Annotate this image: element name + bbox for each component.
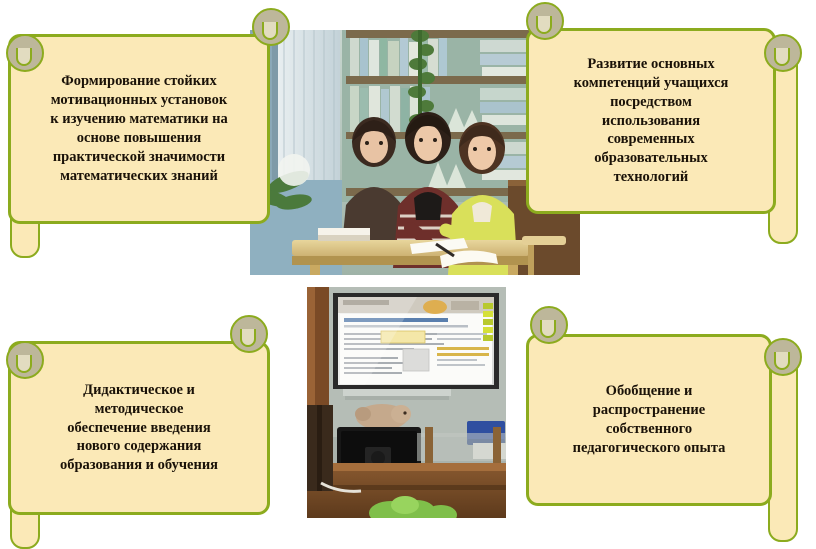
scroll-roll-left-icon xyxy=(6,341,44,379)
photo-interactive-whiteboard xyxy=(307,287,506,518)
scroll-paper: Дидактическое и методическое обеспечение… xyxy=(8,341,270,515)
scroll-roll-right-icon xyxy=(230,315,268,353)
scroll-roll-left-icon xyxy=(6,34,44,72)
scroll-roll-right-icon xyxy=(252,8,290,46)
scroll-experience-text: Обобщение и распространение собственного… xyxy=(559,378,740,461)
scroll-motivation-text: Формирование стойких мотивационных устан… xyxy=(36,68,241,189)
scroll-roll-right-icon xyxy=(764,338,802,376)
scroll-paper: Обобщение и распространение собственного… xyxy=(526,334,772,506)
scroll-motivation: Формирование стойких мотивационных устан… xyxy=(0,8,286,254)
scroll-roll-left-icon xyxy=(526,2,564,40)
scroll-roll-left-icon xyxy=(530,306,568,344)
scroll-didactics: Дидактическое и методическое обеспечение… xyxy=(0,315,286,540)
scroll-roll-right-icon xyxy=(764,34,802,72)
scroll-didactics-text: Дидактическое и методическое обеспечение… xyxy=(46,377,232,479)
scroll-paper: Развитие основных компетенций учащихся п… xyxy=(526,28,776,214)
scroll-paper: Формирование стойких мотивационных устан… xyxy=(8,34,270,224)
photo-interactive-whiteboard-image xyxy=(307,287,506,518)
scroll-competencies-text: Развитие основных компетенций учащихся п… xyxy=(560,51,743,191)
scroll-experience: Обобщение и распространение собственного… xyxy=(516,300,806,540)
